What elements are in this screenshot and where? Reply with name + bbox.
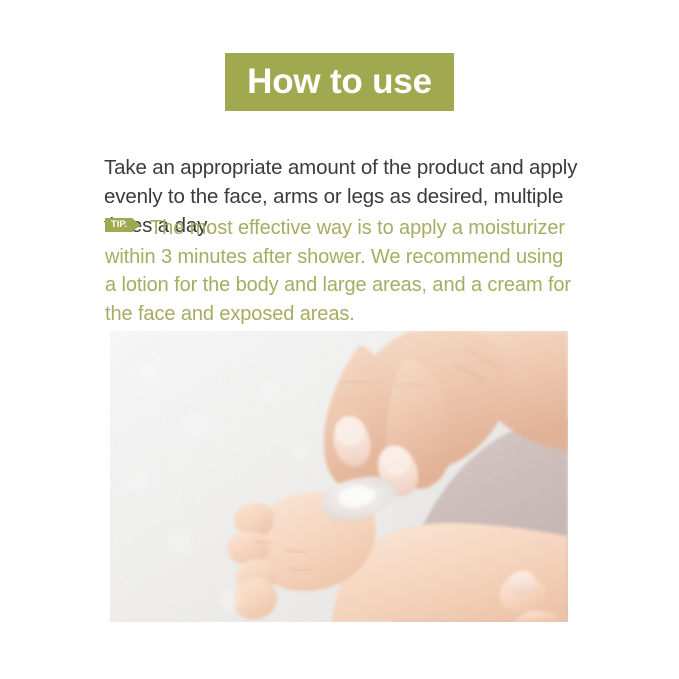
tip-badge: TIP.: [105, 218, 141, 232]
tip-text: The most effective way is to apply a moi…: [105, 217, 571, 325]
heading-container: How to use: [0, 53, 679, 111]
photo-illustration: [110, 331, 568, 622]
tip-block: TIP. The most effective way is to apply …: [105, 214, 575, 328]
page-title: How to use: [225, 53, 454, 111]
product-instruction-page: How to use Take an appropriate amount of…: [0, 0, 679, 679]
tip-badge-label: TIP.: [105, 218, 133, 232]
hand-cream-photo: [110, 331, 568, 622]
